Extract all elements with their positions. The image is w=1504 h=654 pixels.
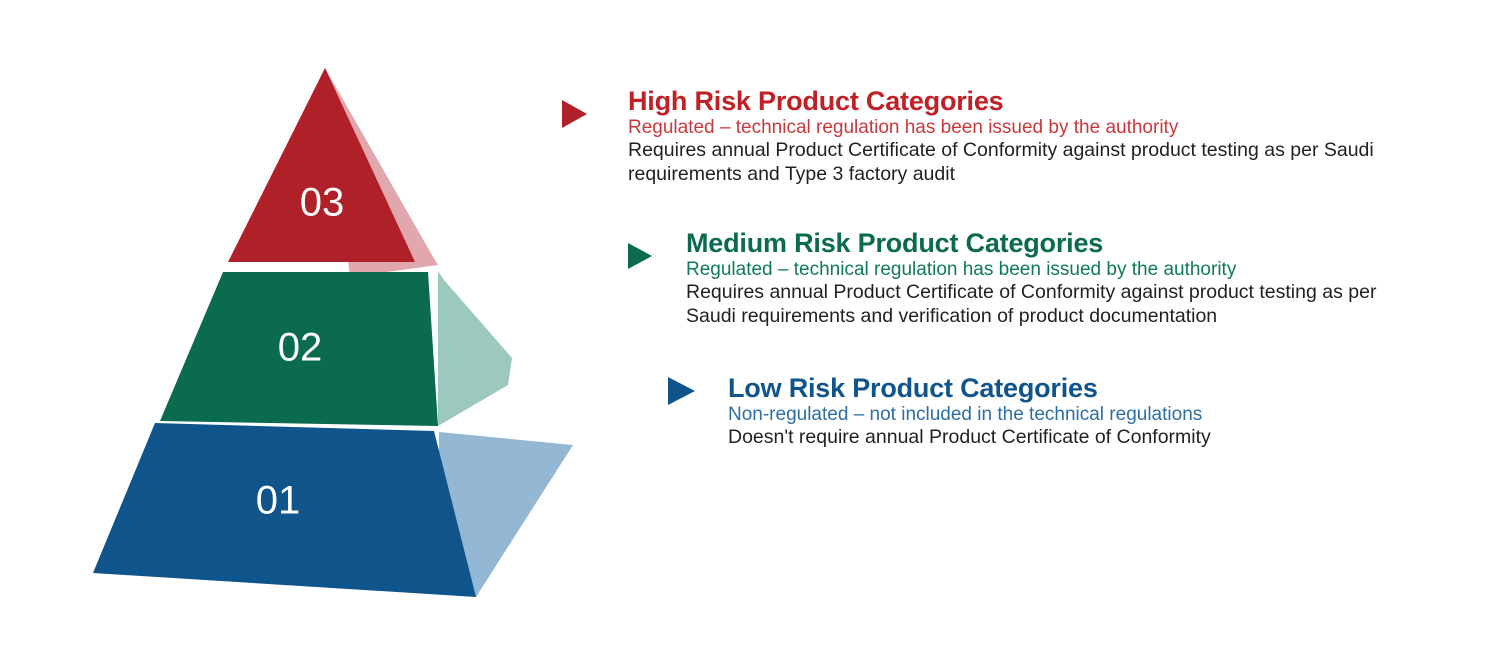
low-risk-title: Low Risk Product Categories xyxy=(728,373,1488,403)
medium-risk-body-line-1: Requires annual Product Certificate of C… xyxy=(686,281,1486,305)
medium-risk-subtitle: Regulated – technical regulation has bee… xyxy=(686,258,1486,281)
low-risk-body-line-1: Doesn't require annual Product Certifica… xyxy=(728,426,1488,450)
high-risk-text-block: High Risk Product Categories Regulated –… xyxy=(628,86,1488,186)
low-risk-pointer-icon xyxy=(668,377,695,405)
high-risk-subtitle: Regulated – technical regulation has bee… xyxy=(628,116,1488,139)
tier-02-number: 02 xyxy=(278,326,323,370)
high-risk-pointer-icon xyxy=(562,100,587,128)
tier-03-front-face xyxy=(228,68,415,262)
pyramid-svg: 03 02 01 xyxy=(60,40,620,620)
medium-risk-pointer-icon xyxy=(628,243,652,269)
high-risk-body-line-1: Requires annual Product Certificate of C… xyxy=(628,139,1488,163)
low-risk-subtitle: Non-regulated – not included in the tech… xyxy=(728,403,1488,426)
tier-03-number: 03 xyxy=(300,181,345,225)
tier-01-number: 01 xyxy=(256,479,301,523)
medium-risk-body-line-2: Saudi requirements and verification of p… xyxy=(686,305,1486,329)
pyramid-graphic: 03 02 01 xyxy=(60,40,620,620)
high-risk-title: High Risk Product Categories xyxy=(628,86,1488,116)
pyramid-risk-categories-diagram: 03 02 01 High Risk Product Categories Re… xyxy=(0,0,1504,654)
medium-risk-title: Medium Risk Product Categories xyxy=(686,228,1486,258)
medium-risk-text-block: Medium Risk Product Categories Regulated… xyxy=(686,228,1486,328)
low-risk-text-block: Low Risk Product Categories Non-regulate… xyxy=(728,373,1488,450)
tier-02-side-face xyxy=(438,271,512,426)
high-risk-body-line-2: requirements and Type 3 factory audit xyxy=(628,163,1488,187)
